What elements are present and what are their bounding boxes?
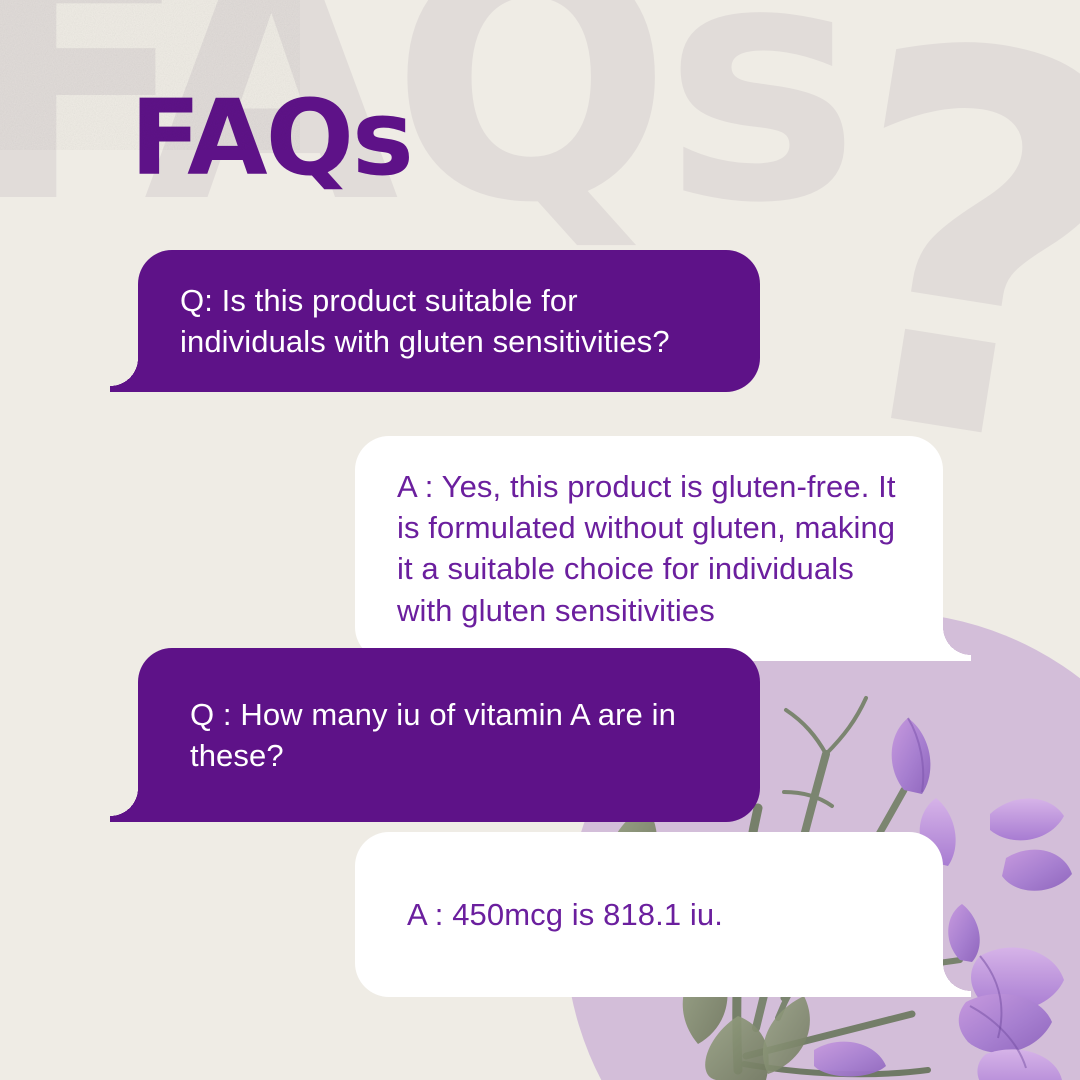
faq-answer-bubble: A : 450mcg is 818.1 iu. xyxy=(355,832,943,997)
faq-question-text: Q: Is this product suitable for individu… xyxy=(180,280,718,362)
faq-answer-text: A : 450mcg is 818.1 iu. xyxy=(407,894,891,935)
faq-answer-text: A : Yes, this product is gluten-free. It… xyxy=(397,466,901,631)
page-title: FAQs xyxy=(130,86,412,190)
watermark-faqs-text: FAQs xyxy=(0,0,852,248)
faq-answer-bubble: A : Yes, this product is gluten-free. It… xyxy=(355,436,943,661)
faq-question-bubble: Q: Is this product suitable for individu… xyxy=(138,250,760,392)
faq-question-bubble: Q : How many iu of vitamin A are in thes… xyxy=(138,648,760,822)
faq-card: FAQs ? xyxy=(0,0,1080,1080)
faq-question-text: Q : How many iu of vitamin A are in thes… xyxy=(190,694,708,776)
